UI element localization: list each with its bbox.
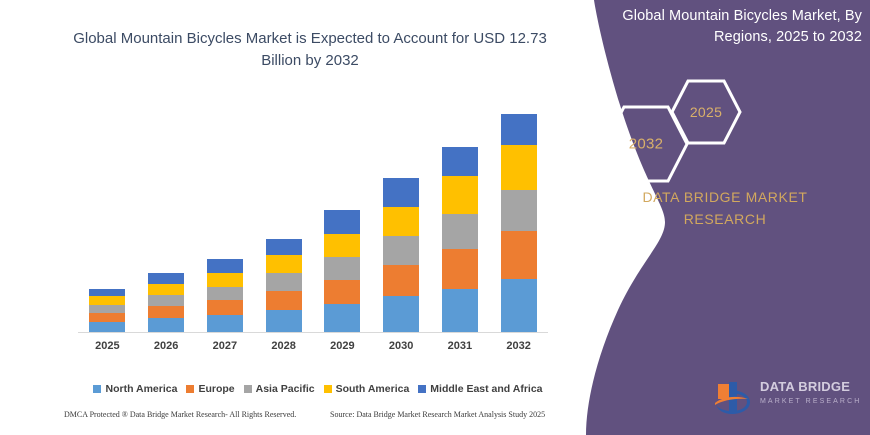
legend-swatch-icon (418, 385, 426, 393)
x-axis-label-2025: 2025 (78, 340, 136, 352)
stacked-bar-chart (78, 95, 548, 332)
x-axis-line (78, 332, 548, 333)
logo-line-2: MARKET RESEARCH (760, 396, 864, 407)
side-panel: Global Mountain Bicycles Market, By Regi… (580, 0, 870, 435)
bar-segment (324, 210, 360, 235)
bar-segment (324, 304, 360, 332)
legend-item[interactable]: Europe (186, 383, 234, 395)
bar-segment (266, 255, 302, 273)
chart-legend: North AmericaEuropeAsia PacificSouth Ame… (78, 383, 558, 395)
bar-segment (89, 322, 125, 332)
bar-2029 (324, 210, 360, 332)
bar-segment (266, 291, 302, 311)
bar-segment (324, 280, 360, 305)
infographic-canvas: Global Mountain Bicycles Market, By Regi… (0, 0, 870, 435)
bar-segment (442, 214, 478, 250)
footer-source: Source: Data Bridge Market Research Mark… (330, 410, 545, 419)
bar-segment (324, 257, 360, 280)
bar-segment (383, 296, 419, 332)
x-axis-labels: 20252026202720282029203020312032 (78, 340, 548, 360)
bar-2026 (148, 273, 184, 332)
logo-line-1: DATA BRIDGE (760, 380, 864, 394)
bar-2031 (442, 147, 478, 332)
bar-segment (207, 315, 243, 332)
bar-2030 (383, 178, 419, 332)
footer: DMCA Protected ® Data Bridge Market Rese… (0, 410, 620, 430)
bar-segment (148, 306, 184, 318)
bar-segment (501, 114, 537, 146)
x-axis-label-2031: 2031 (431, 340, 489, 352)
bar-2025 (89, 289, 125, 332)
bar-segment (148, 295, 184, 306)
bar-segment (148, 273, 184, 284)
bar-segment (148, 284, 184, 296)
legend-label: Asia Pacific (256, 383, 315, 395)
bar-segment (89, 313, 125, 322)
legend-label: Middle East and Africa (430, 383, 542, 395)
x-axis-label-2026: 2026 (137, 340, 195, 352)
legend-label: South America (336, 383, 410, 395)
hexagon-group: 2032 2025 (580, 78, 870, 193)
bar-2027 (207, 259, 243, 332)
bar-segment (383, 178, 419, 207)
bar-segment (89, 296, 125, 305)
hexagon-start-year-label: 2025 (670, 104, 742, 120)
bar-segment (501, 279, 537, 332)
legend-item[interactable]: Middle East and Africa (418, 383, 542, 395)
x-axis-label-2027: 2027 (196, 340, 254, 352)
legend-swatch-icon (324, 385, 332, 393)
x-axis-label-2032: 2032 (490, 340, 548, 352)
bar-segment (383, 207, 419, 237)
footer-copyright: DMCA Protected ® Data Bridge Market Rese… (64, 410, 296, 419)
bar-segment (501, 145, 537, 189)
bar-2028 (266, 239, 302, 332)
bar-segment (89, 305, 125, 313)
bar-2032 (501, 114, 537, 332)
bar-segment (383, 265, 419, 297)
bar-segment (324, 234, 360, 257)
x-axis-label-2030: 2030 (372, 340, 430, 352)
logo-text: DATA BRIDGE MARKET RESEARCH (760, 380, 864, 407)
legend-item[interactable]: North America (93, 383, 177, 395)
bar-segment (266, 273, 302, 291)
bar-segment (207, 287, 243, 301)
bar-segment (89, 289, 125, 297)
x-axis-label-2029: 2029 (313, 340, 371, 352)
bar-segment (207, 300, 243, 315)
bar-segment (442, 176, 478, 214)
legend-item[interactable]: South America (324, 383, 410, 395)
company-logo: DATA BRIDGE MARKET RESEARCH (712, 378, 862, 418)
bar-segment (148, 318, 184, 332)
bar-segment (442, 147, 478, 176)
hexagon-start-year: 2025 (670, 78, 742, 146)
bar-segment (501, 231, 537, 278)
legend-swatch-icon (186, 385, 194, 393)
bar-segment (501, 190, 537, 231)
brand-line-1: DATA BRIDGE MARKET (580, 186, 870, 208)
bar-segment (207, 259, 243, 273)
legend-item[interactable]: Asia Pacific (244, 383, 315, 395)
bar-segment (442, 249, 478, 289)
legend-label: North America (105, 383, 177, 395)
legend-swatch-icon (244, 385, 252, 393)
bar-segment (383, 236, 419, 265)
side-panel-title: Global Mountain Bicycles Market, By Regi… (600, 6, 862, 48)
bar-segment (266, 310, 302, 332)
x-axis-label-2028: 2028 (255, 340, 313, 352)
bar-segment (207, 273, 243, 287)
logo-b-mark-icon (712, 378, 756, 418)
bar-segment (266, 239, 302, 255)
legend-swatch-icon (93, 385, 101, 393)
legend-label: Europe (198, 383, 234, 395)
brand-line-2: RESEARCH (580, 208, 870, 230)
bar-segment (442, 289, 478, 332)
brand-name: DATA BRIDGE MARKET RESEARCH (580, 186, 870, 230)
chart-title: Global Mountain Bicycles Market is Expec… (60, 28, 560, 72)
